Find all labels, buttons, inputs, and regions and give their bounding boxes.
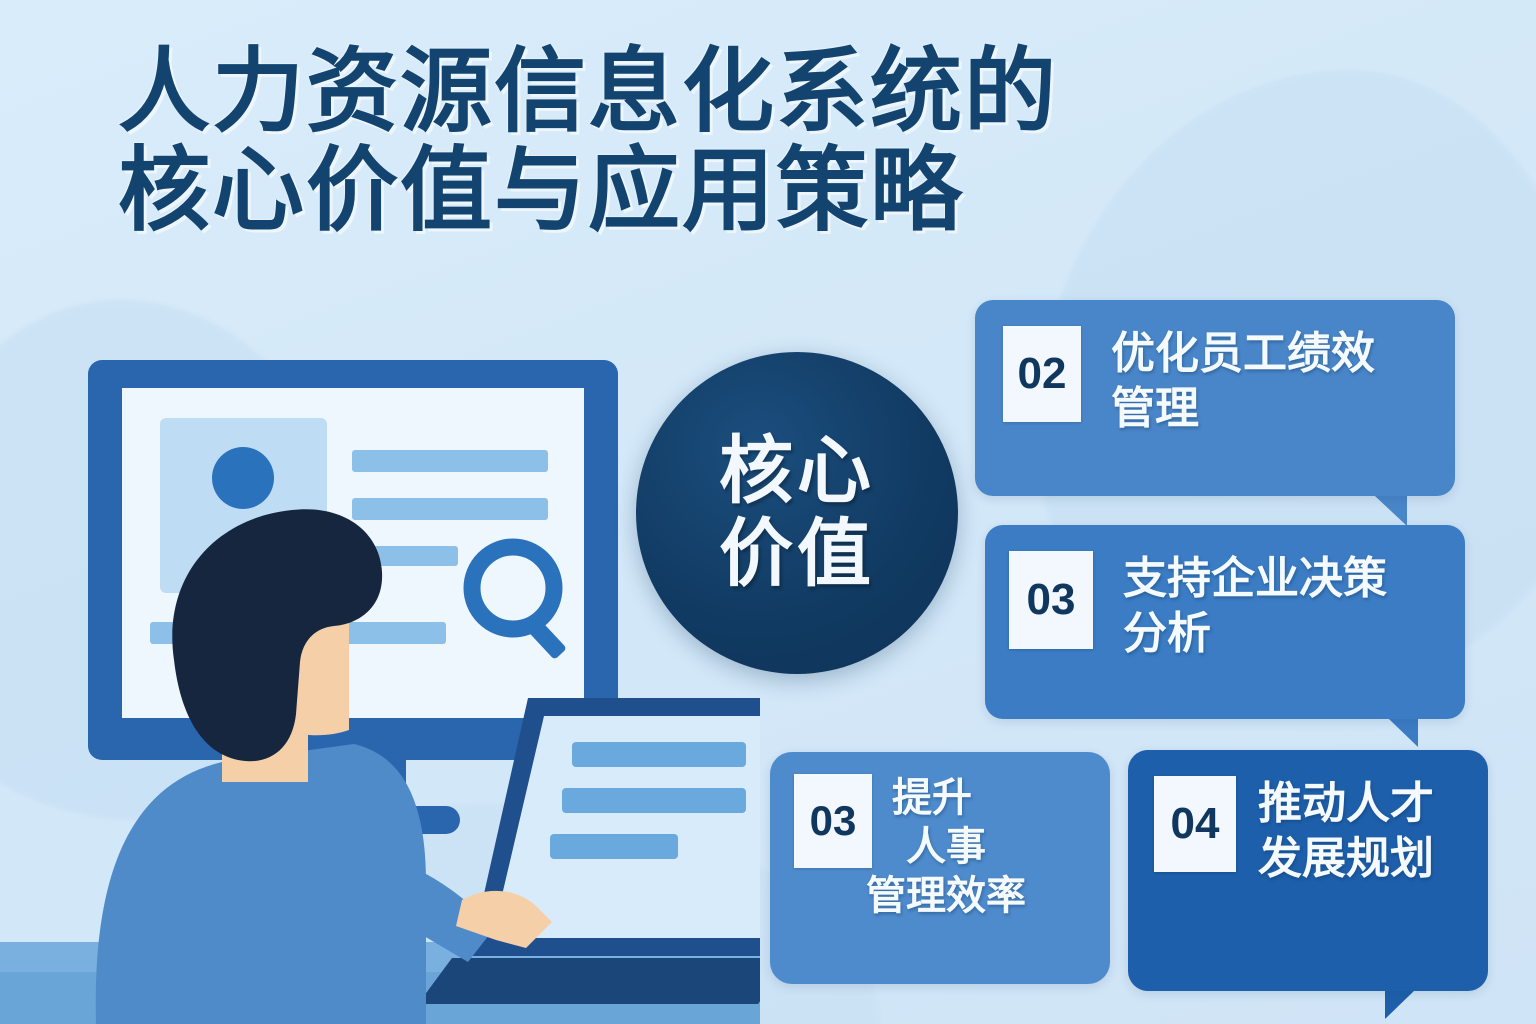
callout-text-line-3: 管理效率 [866, 872, 1026, 921]
laptop-line-3 [550, 834, 678, 859]
title-line-2: 核心价值与应用策略 [118, 141, 1248, 240]
callout-text-line-1: 优化员工绩效 [1111, 326, 1375, 381]
callout-number-badge: 02 [1003, 326, 1081, 422]
laptop-line-2 [562, 788, 746, 813]
callout-text-line-2: 管理 [1111, 381, 1375, 436]
callout-text-line-2: 发展规划 [1258, 831, 1434, 886]
hr-workspace-illustration [0, 330, 760, 1024]
avatar-head-icon [212, 447, 274, 509]
title-line-1: 人力资源信息化系统的 [118, 42, 1248, 141]
callout-text-line-2: 人事 [906, 823, 1026, 872]
callout-text-line-1: 推动人才 [1258, 776, 1434, 831]
callout-number-badge: 04 [1154, 776, 1236, 872]
callout-text-line-1: 支持企业决策 [1123, 551, 1387, 606]
laptop-keyboard-deck [418, 958, 760, 1004]
profile-line-2 [352, 498, 548, 520]
callout-card-03-right[interactable]: 03 支持企业决策 分析 [985, 525, 1465, 719]
callout-number-badge: 03 [1009, 551, 1093, 649]
callout-text: 推动人才 发展规划 [1258, 776, 1434, 886]
callout-text-line-1: 提升 [892, 774, 1026, 823]
callout-text: 提升 人事 管理效率 [892, 774, 1026, 920]
callout-text: 优化员工绩效 管理 [1111, 326, 1375, 436]
poster-title: 人力资源信息化系统的 核心价值与应用策略 [118, 42, 1248, 241]
callout-card-03-left[interactable]: 03 提升 人事 管理效率 [770, 752, 1110, 984]
callout-text: 支持企业决策 分析 [1123, 551, 1387, 661]
infographic-poster: 人力资源信息化系统的 核心价值与应用策略 [0, 0, 1536, 1024]
callout-card-02[interactable]: 02 优化员工绩效 管理 [975, 300, 1455, 496]
core-value-line-2: 价值 [719, 513, 875, 596]
callout-number-badge: 03 [794, 774, 872, 868]
callout-text-line-2: 分析 [1123, 606, 1387, 661]
callout-card-04[interactable]: 04 推动人才 发展规划 [1128, 750, 1488, 991]
core-value-line-1: 核心 [719, 430, 875, 513]
laptop-line-1 [572, 742, 746, 767]
core-value-circle: 核心 价值 [636, 352, 958, 674]
profile-line-1 [352, 450, 548, 472]
